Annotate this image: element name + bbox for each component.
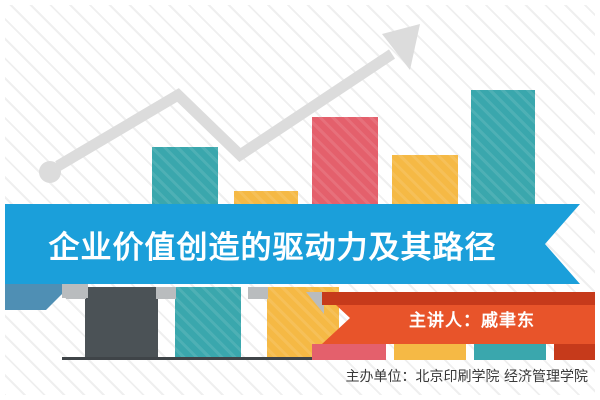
lower-block-2 xyxy=(175,287,241,359)
organizer-footer: 主办单位：北京印刷学院 经济管理学院 xyxy=(0,366,588,386)
blue-ribbon-fold-cap xyxy=(62,284,88,298)
footer-block-3 xyxy=(474,344,546,360)
speaker-label: 主讲人：戚聿东 xyxy=(322,292,600,344)
lower-block-1 xyxy=(85,287,158,359)
lower-block-2-cap xyxy=(156,287,176,299)
presentation-slide: 企业价值创造的驱动力及其路径 主讲人：戚聿东 主办单位：北京印刷学院 经济管理学… xyxy=(0,0,600,400)
footer-block-2 xyxy=(394,344,466,360)
block-sheen xyxy=(175,287,241,359)
footer-block-1 xyxy=(312,344,386,360)
lower-block-3-cap xyxy=(248,287,268,299)
footer-block-4 xyxy=(554,344,600,360)
page-title: 企业价值创造的驱动力及其路径 xyxy=(0,204,545,284)
